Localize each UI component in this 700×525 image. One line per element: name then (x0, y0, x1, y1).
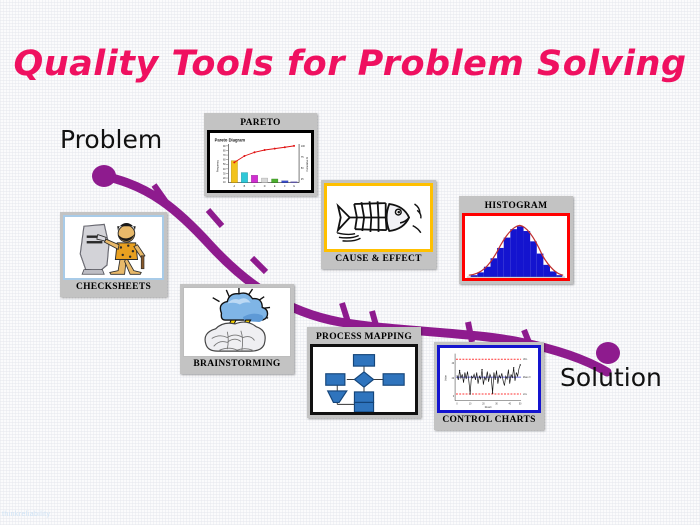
flowchart-icon (310, 344, 418, 415)
svg-text:100: 100 (301, 145, 306, 148)
tool-card-pareto-caption: PARETO (207, 116, 314, 130)
tool-card-control-charts[interactable]: 40200 Value 01020 304050 Result UCL Mean… (434, 342, 544, 430)
tool-card-cause-effect-caption: CAUSE & EFFECT (324, 252, 433, 266)
svg-text:Mean X: Mean X (523, 377, 531, 379)
tool-card-cause-effect[interactable]: CAUSE & EFFECT (321, 180, 436, 269)
tool-card-checksheets-caption: CHECKSHEETS (63, 280, 164, 294)
tool-card-process-mapping[interactable]: PROCESS MAPPING (307, 327, 421, 418)
solution-node (596, 342, 620, 364)
brain-storm-cloud-icon (183, 287, 291, 357)
svg-text:Value: Value (446, 374, 448, 381)
svg-text:Pareto Diagram: Pareto Diagram (215, 137, 246, 142)
watermark: thinkreliability (2, 511, 50, 518)
tool-card-brainstorming[interactable]: BRAINSTORMING (180, 284, 294, 374)
control-chart-icon: 40200 Value 01020 304050 Result UCL Mean… (437, 345, 541, 413)
svg-text:UCL: UCL (523, 359, 528, 361)
tool-card-brainstorming-caption: BRAINSTORMING (183, 357, 291, 371)
caveman-stone-tablet-icon (63, 215, 164, 280)
svg-text:G: G (293, 185, 295, 188)
fishbone-icon (324, 183, 433, 252)
svg-text:D: D (264, 185, 266, 188)
tool-card-control-charts-caption: CONTROL CHARTS (437, 413, 541, 427)
problem-node (92, 165, 116, 187)
svg-text:Result: Result (485, 406, 492, 409)
svg-text:C: C (254, 185, 256, 188)
svg-text:Cumulative %: Cumulative % (306, 156, 309, 172)
tool-card-pareto[interactable]: PARETO Pareto Diagram 908070 605040 3020… (204, 113, 317, 196)
tool-card-process-mapping-caption: PROCESS MAPPING (310, 330, 418, 344)
solution-label: Solution (560, 363, 662, 392)
svg-text:Frequency: Frequency (215, 159, 219, 172)
problem-label: Problem (60, 125, 162, 154)
histogram-icon (462, 213, 570, 281)
pareto-chart-icon: Pareto Diagram 908070 605040 302010 Freq… (207, 130, 314, 193)
tool-card-histogram-caption: HISTOGRAM (462, 199, 570, 213)
svg-text:LCL: LCL (523, 394, 528, 396)
tool-card-histogram[interactable]: HISTOGRAM (459, 196, 573, 284)
tool-card-checksheets[interactable]: CHECKSHEETS (60, 212, 167, 297)
